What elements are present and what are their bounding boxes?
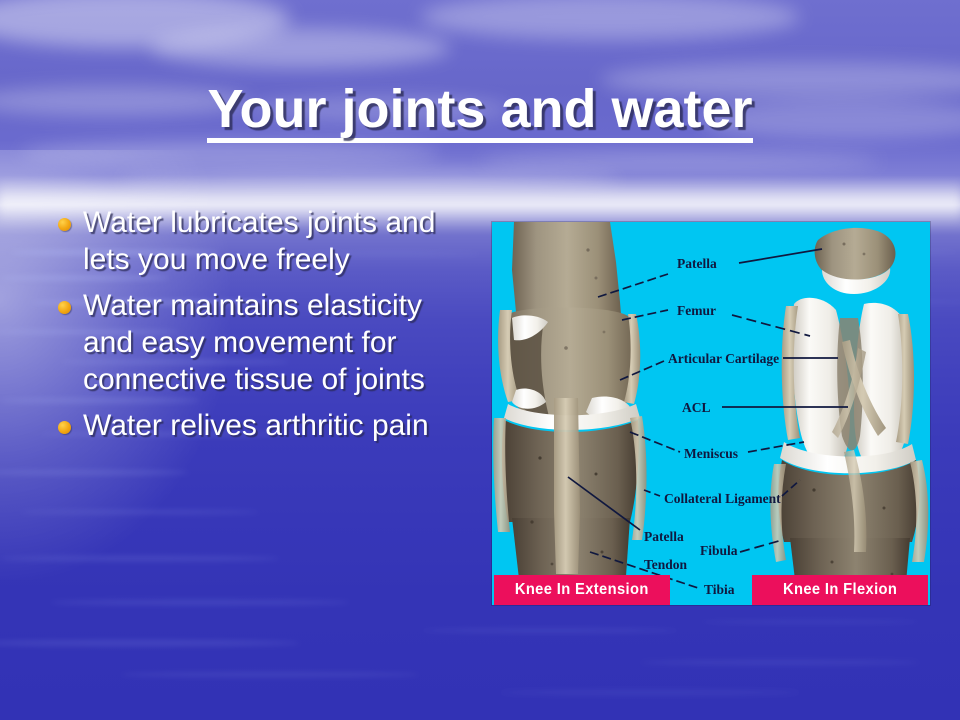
label-patella-tendon-line2: Tendon (644, 557, 688, 572)
knee-anatomy-image: Patella Femur Articular Cartilage ACL Me… (492, 222, 930, 605)
water-ripple (0, 470, 190, 475)
caption-knee-extension: Knee In Extension (494, 575, 670, 605)
water-ripple (640, 660, 920, 665)
list-item: Water lubricates joints and lets you mov… (58, 204, 478, 278)
label-articular-cartilage: Articular Cartilage (668, 351, 779, 366)
list-item: Water maintains elasticity and easy move… (58, 287, 478, 398)
caption-knee-flexion: Knee In Flexion (752, 575, 928, 605)
label-patella: Patella (677, 256, 717, 271)
list-item: Water relives arthritic pain (58, 407, 478, 444)
cloud-wisp (0, 0, 290, 48)
cloud-wisp (120, 170, 620, 190)
water-ripple (500, 690, 800, 695)
label-patella-tendon-line1: Patella (644, 529, 684, 544)
bullet-text: Water lubricates joints and lets you mov… (83, 204, 478, 278)
cloud-wisp (420, 0, 800, 40)
label-femur: Femur (677, 303, 716, 318)
label-tibia: Tibia (704, 582, 735, 597)
water-ripple (700, 620, 920, 624)
bullet-text: Water relives arthritic pain (83, 407, 429, 444)
slide-canvas: Your joints and water Water lubricates j… (0, 0, 960, 720)
label-acl: ACL (682, 400, 711, 415)
bullet-circle-icon (58, 421, 71, 434)
cloud-wisp (20, 140, 440, 166)
slide-title-text: Your joints and water (207, 82, 752, 143)
knee-anatomy-svg: Patella Femur Articular Cartilage ACL Me… (492, 222, 930, 605)
bullet-circle-icon (58, 301, 71, 314)
bullet-list: Water lubricates joints and lets you mov… (58, 204, 478, 453)
bullet-text: Water maintains elasticity and easy move… (83, 287, 478, 398)
caption-knee-flexion-text: Knee In Flexion (783, 581, 897, 599)
bullet-circle-icon (58, 218, 71, 231)
water-ripple (0, 556, 280, 561)
cloud-wisp (480, 150, 880, 172)
slide-title: Your joints and water (0, 78, 960, 143)
cloud-wisp (150, 28, 450, 68)
water-ripple (420, 628, 680, 633)
label-meniscus: Meniscus (684, 446, 738, 461)
water-ripple (20, 510, 260, 514)
water-ripple (50, 600, 350, 605)
label-collateral-ligament: Collateral Ligament (664, 491, 781, 506)
label-fibula: Fibula (700, 543, 738, 558)
water-ripple (0, 640, 300, 646)
caption-knee-extension-text: Knee In Extension (515, 581, 649, 599)
water-ripple (120, 672, 420, 677)
